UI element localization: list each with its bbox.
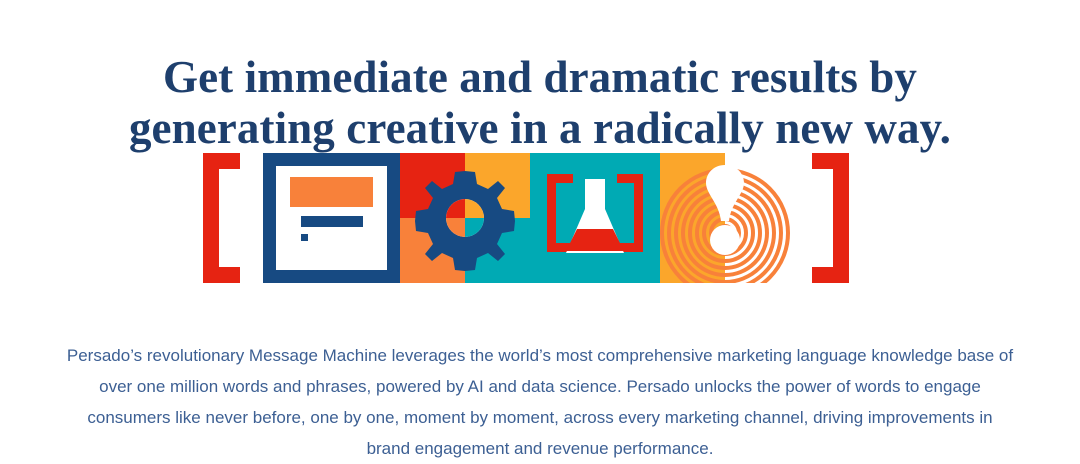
message-machine-graphic [203,153,849,283]
body-paragraph: Persado’s revolutionary Message Machine … [65,340,1015,464]
bracket-right-icon [812,153,849,283]
gear-icon [410,163,520,273]
flask-tile [530,153,660,283]
gear-tile [400,153,530,283]
bracket-left-icon [203,153,240,283]
document-icon [276,166,387,270]
exclamation-icon [660,153,791,283]
document-tile [263,153,400,283]
exclamation-tile [660,153,791,283]
flask-icon [559,177,631,259]
page-title: Get immediate and dramatic results by ge… [0,52,1080,154]
